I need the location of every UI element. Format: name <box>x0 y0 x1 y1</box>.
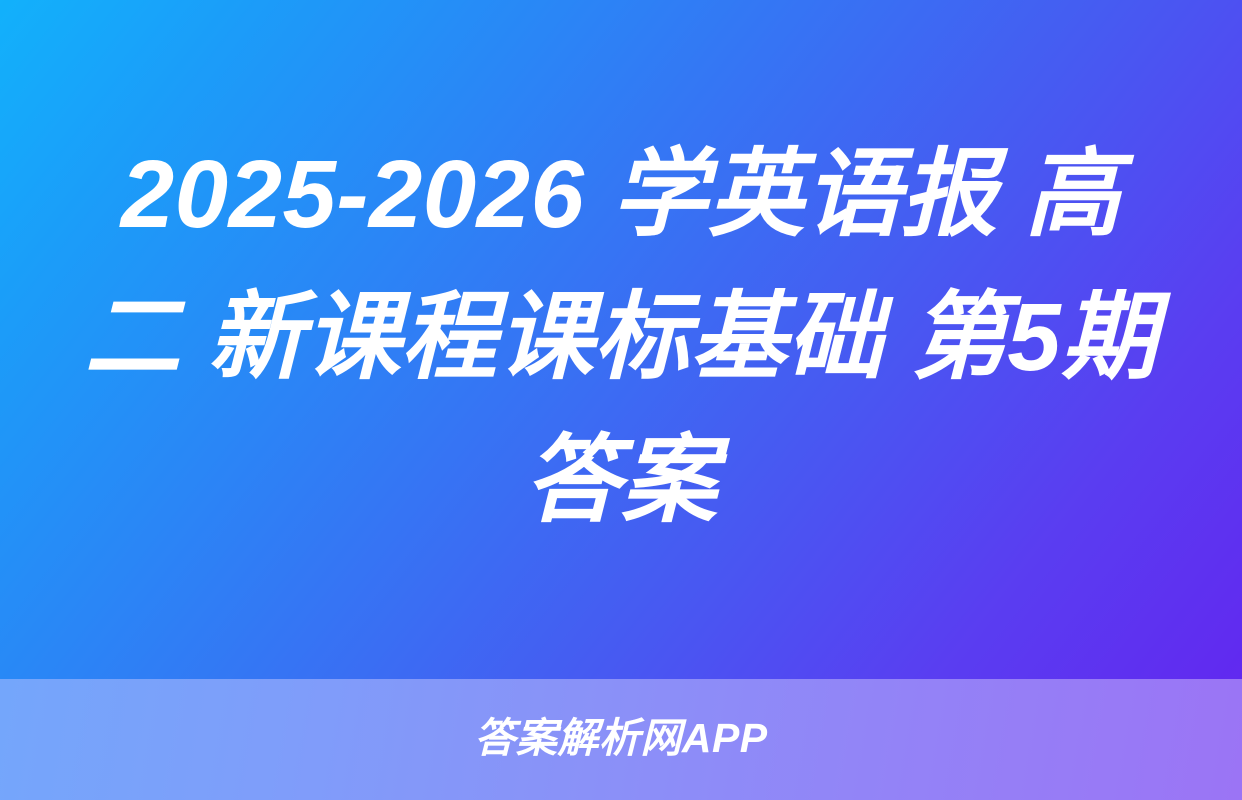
poster-title-wrap: 2025-2026 学英语报 高二 新课程课标基础 第5期答案 <box>75 123 1167 556</box>
brand-band[interactable]: 答案解析网APP <box>0 679 1242 800</box>
poster-card: 2025-2026 学英语报 高二 新课程课标基础 第5期答案 答案解析网APP <box>0 0 1242 800</box>
poster-hero: 2025-2026 学英语报 高二 新课程课标基础 第5期答案 <box>0 0 1242 679</box>
page-title: 2025-2026 学英语报 高二 新课程课标基础 第5期答案 <box>75 123 1167 552</box>
brand-app-label[interactable]: 答案解析网APP <box>474 718 767 761</box>
